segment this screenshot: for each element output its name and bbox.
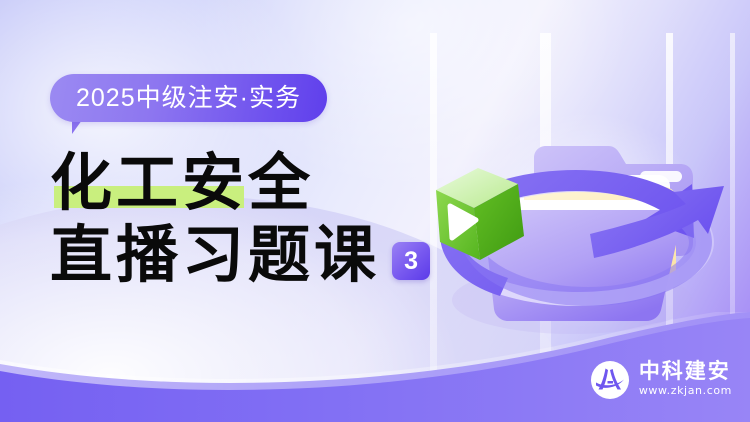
logo-circle-icon <box>590 360 630 400</box>
logo-website-url: www.zkjan.com <box>639 383 732 400</box>
tag-tail <box>72 120 92 134</box>
logo-company-name: 中科建安 <box>639 360 732 383</box>
headline-line-1: 化工安全 <box>50 152 430 214</box>
headline-line-2: 直播习题课 3 <box>50 224 430 286</box>
course-tag: 2025中级注安·实务 <box>50 74 327 122</box>
course-banner: 2025中级注安·实务 化工安全 直播习题课 3 中科建安 www.zkjan.… <box>0 0 750 422</box>
headline-text-1: 化工安全 <box>50 152 314 214</box>
folder-play-illustration <box>412 38 742 358</box>
brand-logo: 中科建安 www.zkjan.com <box>590 360 732 400</box>
headline-block: 化工安全 直播习题课 3 <box>50 152 430 286</box>
episode-number-badge: 3 <box>392 242 430 280</box>
course-tag-label: 2025中级注安·实务 <box>76 86 301 111</box>
episode-number-label: 3 <box>404 249 418 274</box>
logo-text-block: 中科建安 www.zkjan.com <box>639 360 732 400</box>
headline-text-2: 直播习题课 <box>50 224 380 286</box>
